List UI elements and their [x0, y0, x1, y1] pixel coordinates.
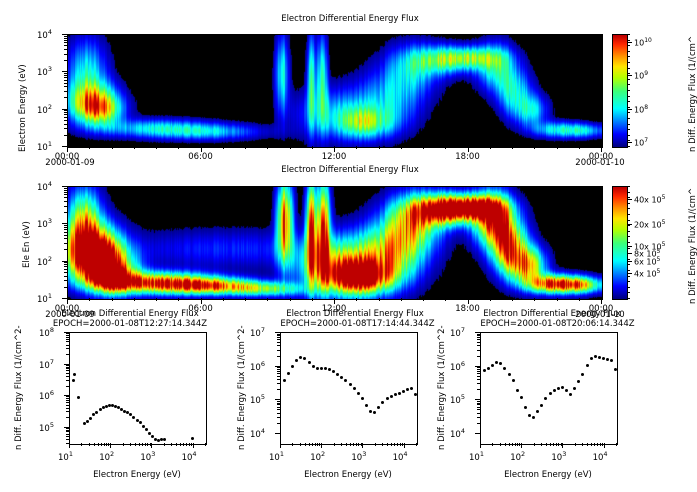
lineplot-2-title: Electron Differential Energy Flux [255, 309, 455, 319]
axis-tick [64, 201, 67, 202]
axis-tick [627, 40, 630, 41]
axis-tick [477, 369, 480, 370]
axis-tick [64, 229, 67, 230]
axis-tick [477, 401, 480, 402]
axis-tick [62, 186, 67, 187]
data-point [95, 411, 98, 414]
axis-tick [627, 292, 630, 293]
axis-tick [275, 399, 280, 400]
axis-tick [64, 42, 67, 43]
axis-tick [627, 124, 630, 125]
lineplot-3-title: Electron Differential Energy Flux [452, 309, 652, 319]
data-point [561, 386, 564, 389]
data-point [357, 392, 360, 395]
axis-tick [321, 443, 322, 448]
axis-tick [334, 443, 335, 446]
axis-tick [534, 443, 535, 446]
axis-tick [66, 373, 69, 374]
axis-tick [98, 443, 99, 446]
colorbar-tick-label: 108 [634, 104, 648, 115]
data-point [508, 373, 511, 376]
data-point [381, 401, 384, 404]
axis-tick [139, 443, 140, 446]
axis-tick [627, 79, 630, 80]
axis-tick [423, 298, 424, 301]
axis-tick-label: 101 [469, 450, 484, 463]
axis-tick [66, 337, 69, 338]
axis-tick [477, 383, 480, 384]
axis-tick [627, 261, 632, 262]
lineplot-1-title: Electron Differential Energy Flux [30, 309, 230, 319]
axis-tick [519, 443, 520, 446]
axis-tick [110, 443, 111, 448]
axis-tick [64, 232, 67, 233]
axis-tick [62, 223, 67, 224]
axis-tick [106, 443, 107, 446]
axis-tick [66, 439, 69, 440]
data-point [139, 421, 142, 424]
data-point [544, 397, 547, 400]
axis-tick [627, 287, 630, 288]
axis-tick [277, 423, 280, 424]
data-point [487, 367, 490, 370]
axis-tick [112, 298, 113, 301]
axis-tick [312, 146, 313, 149]
axis-tick [627, 96, 630, 97]
axis-tick [401, 146, 402, 149]
axis-tick [561, 443, 562, 446]
data-point [406, 388, 409, 391]
axis-tick [627, 246, 632, 247]
axis-tick [627, 259, 630, 260]
axis-tick [64, 194, 67, 195]
axis-tick [64, 262, 67, 263]
data-point [365, 404, 368, 407]
axis-tick [517, 443, 518, 446]
axis-tick [277, 373, 280, 374]
axis-tick [66, 398, 69, 399]
axis-tick [627, 186, 630, 187]
axis-tick [477, 337, 480, 338]
data-point [483, 369, 486, 372]
axis-tick-label: 105 [250, 393, 265, 406]
axis-tick [557, 146, 558, 149]
axis-tick [492, 443, 493, 446]
axis-tick-label: 104 [393, 450, 408, 463]
data-point [191, 437, 194, 440]
axis-tick [64, 75, 67, 76]
axis-tick [176, 443, 177, 446]
axis-tick [627, 84, 630, 85]
axis-tick [375, 443, 376, 446]
axis-tick [477, 334, 480, 335]
axis-tick [66, 386, 69, 387]
axis-tick [315, 443, 316, 446]
axis-tick [312, 443, 313, 446]
axis-tick-label: 103 [140, 450, 155, 463]
spectrogram-top-plot-area [67, 34, 603, 148]
data-point [565, 389, 568, 392]
data-point [512, 379, 515, 382]
axis-tick [171, 443, 172, 446]
axis-tick-label: 106 [450, 360, 465, 373]
axis-tick-label: 107 [250, 326, 265, 339]
axis-tick [66, 436, 69, 437]
axis-tick [164, 443, 165, 446]
data-point [145, 428, 148, 431]
axis-tick [64, 114, 67, 115]
axis-tick [490, 146, 491, 149]
axis-tick [112, 146, 113, 149]
axis-tick [534, 146, 535, 149]
data-point [606, 358, 609, 361]
axis-tick [64, 117, 67, 118]
axis-tick [477, 404, 480, 405]
axis-tick [64, 188, 67, 189]
axis-tick [64, 266, 67, 267]
axis-tick [361, 443, 362, 446]
axis-tick [480, 443, 481, 448]
axis-tick [277, 356, 280, 357]
spectrogram-top-colorbar [612, 34, 628, 148]
data-point [340, 376, 343, 379]
axis-tick [180, 443, 181, 446]
time-tick-label: 12:00 [309, 152, 359, 162]
axis-tick [477, 350, 480, 351]
data-point [520, 396, 523, 399]
axis-tick [64, 135, 67, 136]
axis-tick [277, 389, 280, 390]
axis-tick [627, 197, 630, 198]
data-point [532, 416, 535, 419]
axis-tick [277, 342, 280, 343]
axis-tick [145, 443, 146, 446]
data-point [324, 367, 327, 370]
axis-tick [64, 120, 67, 121]
spectrogram-bottom-plot-area [67, 186, 603, 300]
axis-tick [62, 34, 67, 35]
colorbar-tick-label: 6x 105 [634, 256, 660, 267]
axis-tick [627, 220, 630, 221]
axis-tick [64, 249, 67, 250]
axis-tick [477, 413, 480, 414]
axis-tick [66, 370, 69, 371]
axis-tick [575, 443, 576, 446]
axis-tick [280, 443, 281, 448]
data-point [83, 422, 86, 425]
axis-tick [64, 54, 67, 55]
data-point [77, 396, 80, 399]
axis-tick [477, 367, 480, 368]
data-point [390, 395, 393, 398]
axis-tick [64, 73, 67, 74]
axis-tick [66, 380, 69, 381]
axis-tick [477, 356, 480, 357]
axis-tick [627, 112, 630, 113]
axis-tick [534, 298, 535, 301]
axis-tick [490, 298, 491, 301]
axis-tick [579, 146, 580, 149]
axis-tick [627, 51, 630, 52]
axis-tick [416, 443, 417, 446]
data-point [295, 359, 298, 362]
spectrogram-bottom-colorbar-label: n Diff. Energy Flux (1/(cm^ [688, 188, 697, 304]
axis-tick [627, 42, 632, 43]
data-point [373, 411, 376, 414]
axis-tick [64, 238, 67, 239]
axis-tick [277, 339, 280, 340]
axis-tick [627, 73, 630, 74]
axis-tick [135, 443, 136, 446]
colorbar-tick-label: 109 [634, 70, 648, 81]
axis-tick-label: 101 [58, 450, 73, 463]
axis-tick [627, 68, 630, 69]
axis-tick [356, 298, 357, 301]
lineplot-1-xlabel: Electron Energy (eV) [69, 470, 205, 480]
axis-tick [66, 400, 69, 401]
spectrogram-bottom-ylabel: Ele En (eV) [22, 221, 32, 268]
lineplot-3-plot-area [480, 332, 618, 445]
axis-tick [353, 443, 354, 446]
axis-tick [627, 135, 630, 136]
axis-tick [404, 443, 405, 448]
axis-tick [477, 389, 480, 390]
axis-tick [66, 368, 69, 369]
axis-tick [277, 335, 280, 336]
axis-tick [64, 86, 67, 87]
axis-tick [66, 405, 69, 406]
data-point [377, 406, 380, 409]
axis-tick [275, 332, 280, 333]
data-point [361, 397, 364, 400]
data-point [92, 413, 95, 416]
axis-tick [627, 199, 632, 200]
data-point [553, 389, 556, 392]
axis-tick [591, 443, 592, 446]
data-point [491, 364, 494, 367]
axis-tick [477, 345, 480, 346]
axis-tick [627, 208, 630, 209]
axis-tick [64, 110, 67, 111]
data-point [516, 389, 519, 392]
axis-tick [104, 443, 105, 446]
axis-tick [64, 243, 67, 244]
axis-tick [66, 348, 69, 349]
axis-tick [546, 443, 547, 446]
axis-tick [477, 376, 480, 377]
axis-tick [582, 443, 583, 446]
axis-tick [277, 404, 280, 405]
axis-tick [142, 443, 143, 446]
axis-tick-label: 104 [250, 427, 265, 440]
spectrogram-top-date-left: 2000-01-09 [20, 158, 120, 168]
axis-tick [382, 443, 383, 446]
axis-tick-label: 107 [450, 326, 465, 339]
axis-tick [191, 443, 192, 446]
axis-tick [64, 128, 67, 129]
axis-tick [193, 443, 194, 448]
axis-tick-label: 107 [39, 358, 54, 371]
axis-tick [627, 101, 630, 102]
lineplot-3-ylabel: n Diff. Energy Flux (1/(cm^2- [437, 325, 447, 450]
data-point [344, 379, 347, 382]
axis-tick [627, 140, 630, 141]
data-point [394, 393, 397, 396]
axis-tick [556, 443, 557, 446]
axis-tick-label: 103 [351, 450, 366, 463]
axis-tick [178, 146, 179, 149]
axis-tick [245, 146, 246, 149]
axis-tick [277, 337, 280, 338]
spectrogram-top-title: Electron Differential Energy Flux [180, 14, 520, 24]
axis-tick [627, 273, 632, 274]
axis-tick [66, 354, 69, 355]
axis-tick [64, 269, 67, 270]
axis-tick [66, 341, 69, 342]
axis-tick [64, 235, 67, 236]
axis-tick [64, 49, 67, 50]
axis-tick [123, 443, 124, 446]
axis-tick [387, 443, 388, 446]
axis-tick [64, 124, 67, 125]
axis-tick [401, 298, 402, 301]
axis-tick-label: 102 [510, 450, 525, 463]
axis-tick [627, 270, 630, 271]
axis-tick [64, 83, 67, 84]
axis-tick [66, 430, 69, 431]
axis-tick [512, 146, 513, 149]
data-point [99, 408, 102, 411]
axis-tick-label: 102 [99, 450, 114, 463]
axis-tick [627, 142, 632, 143]
axis-tick-label: 104 [450, 427, 465, 440]
data-point [316, 367, 319, 370]
axis-tick [477, 371, 480, 372]
axis-tick [69, 443, 70, 448]
axis-tick [277, 371, 280, 372]
axis-tick [277, 369, 280, 370]
axis-tick [627, 203, 630, 204]
axis-tick-label: 103 [37, 217, 52, 230]
axis-tick [277, 403, 280, 404]
axis-tick [64, 77, 67, 78]
axis-tick-label: 106 [39, 389, 54, 402]
data-point [402, 390, 405, 393]
axis-tick [64, 197, 67, 198]
data-point [291, 365, 294, 368]
axis-tick [89, 298, 90, 301]
axis-tick [66, 335, 69, 336]
data-point [72, 379, 75, 382]
data-point [610, 359, 613, 362]
spectrogram-top-date-right: 2000-01-10 [550, 158, 650, 168]
axis-tick [64, 190, 67, 191]
colorbar-tick-label: 107 [634, 137, 648, 148]
axis-tick [66, 434, 69, 435]
axis-tick [397, 443, 398, 446]
axis-tick [627, 56, 630, 57]
axis-tick [94, 443, 95, 446]
axis-tick [505, 443, 506, 446]
axis-tick [562, 443, 563, 448]
data-point [353, 387, 356, 390]
axis-tick [62, 71, 67, 72]
lineplot-2-plot-area [280, 332, 418, 445]
axis-tick [64, 225, 67, 226]
axis-tick [277, 401, 280, 402]
lineplot-3-subtitle: EPOCH=2000-01-08T20:06:14.344Z [450, 319, 665, 329]
axis-tick [627, 62, 630, 63]
data-point [283, 379, 286, 382]
axis-tick [445, 298, 446, 301]
data-point [540, 404, 543, 407]
spectrogram-top-ylabel: Electron Energy (eV) [18, 64, 28, 152]
axis-tick [275, 433, 280, 434]
axis-tick [477, 379, 480, 380]
axis-tick [627, 107, 630, 108]
data-point [398, 392, 401, 395]
data-point [287, 372, 290, 375]
axis-tick-label: 101 [37, 292, 52, 305]
axis-tick [277, 383, 280, 384]
axis-tick [477, 342, 480, 343]
data-point [132, 416, 135, 419]
data-point [308, 361, 311, 364]
axis-tick [627, 146, 630, 147]
axis-tick [509, 443, 510, 446]
axis-tick [627, 248, 630, 249]
axis-tick [151, 443, 152, 448]
axis-tick-label: 101 [269, 450, 284, 463]
lineplot-1-plot-area [69, 332, 207, 445]
axis-tick [475, 332, 480, 333]
axis-tick [134, 298, 135, 301]
axis-tick [477, 417, 480, 418]
axis-tick [290, 146, 291, 149]
axis-tick [156, 146, 157, 149]
axis-tick [66, 396, 69, 397]
axis-tick [147, 443, 148, 446]
lineplot-1-ylabel: n Diff. Energy Flux (1/(cm^2- [14, 325, 24, 450]
axis-tick [277, 379, 280, 380]
data-point [86, 420, 89, 423]
axis-tick [66, 333, 69, 334]
axis-tick [379, 298, 380, 301]
colorbar-tick-label: 40x 105 [634, 194, 665, 205]
data-point [410, 387, 413, 390]
axis-tick [64, 60, 67, 61]
spectrogram-bottom-title: Electron Differential Energy Flux [180, 165, 520, 175]
axis-tick [594, 443, 595, 446]
axis-tick [627, 225, 630, 226]
data-point [89, 417, 92, 420]
data-point [598, 356, 601, 359]
axis-tick [64, 272, 67, 273]
axis-tick [205, 443, 206, 446]
data-point [349, 383, 352, 386]
axis-tick [512, 443, 513, 446]
data-point [328, 368, 331, 371]
axis-tick-label: 104 [182, 450, 197, 463]
axis-tick [309, 443, 310, 446]
axis-tick [66, 376, 69, 377]
axis-tick [89, 146, 90, 149]
axis-tick [602, 443, 603, 446]
lineplot-2-xlabel: Electron Energy (eV) [280, 470, 416, 480]
data-point [73, 373, 76, 376]
axis-tick [64, 112, 67, 113]
axis-tick [66, 339, 69, 340]
